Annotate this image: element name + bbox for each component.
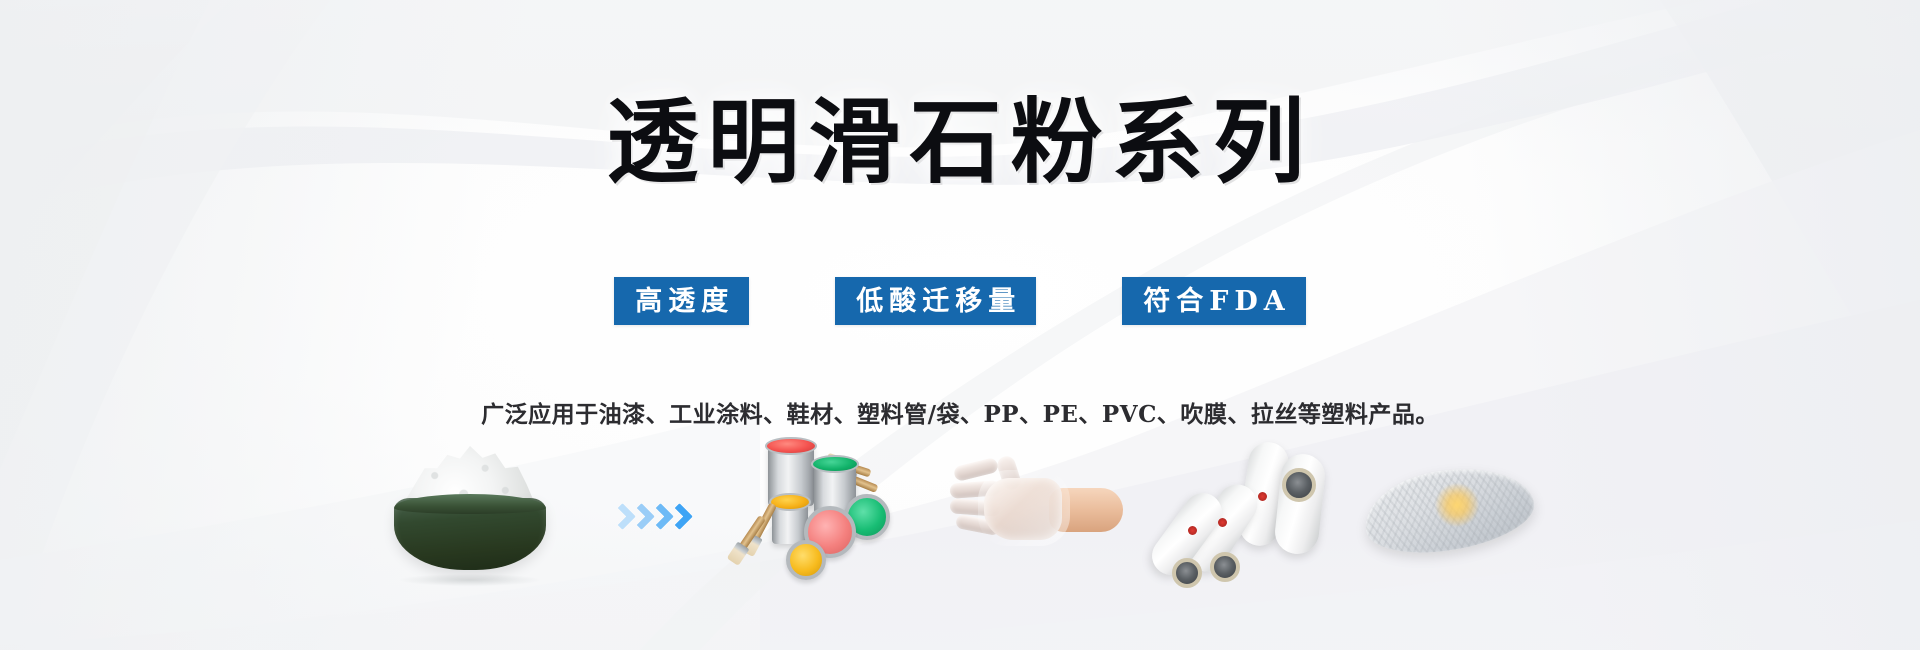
feature-badge-fda-compliant[interactable]: 符合FDA <box>1122 277 1306 325</box>
product-banner: 透明滑石粉系列 高透度 低酸迁移量 符合FDA 广泛应用于油漆、工业涂料、鞋材、… <box>0 0 1920 650</box>
chevron-arrows <box>612 504 685 534</box>
feature-badge-group: 高透度 低酸迁移量 符合FDA <box>0 277 1920 325</box>
chevron-right-icon-2 <box>631 504 647 534</box>
feature-badge-low-acid-migration[interactable]: 低酸迁移量 <box>835 277 1036 325</box>
paint-can-yellow <box>772 500 808 544</box>
product-image-film-rolls <box>1147 435 1337 590</box>
film-roll-core-2 <box>1172 558 1202 588</box>
paint-can-green-lid <box>811 455 859 473</box>
glove-palm <box>984 478 1062 540</box>
film-roll-label-dot-3 <box>1188 526 1197 535</box>
chevron-right-icon-4 <box>669 504 685 534</box>
bowl-shadow <box>400 574 540 586</box>
film-roll-core-1 <box>1282 468 1316 502</box>
gloved-hand-illustration <box>942 440 1127 590</box>
talc-bowl-illustration <box>375 440 565 590</box>
process-arrow-group <box>583 435 713 590</box>
product-image-talc-powder-bowl <box>375 435 565 590</box>
shoe-sole-highlight-glow <box>1436 484 1478 526</box>
feature-badge-high-transparency[interactable]: 高透度 <box>614 277 749 325</box>
paint-can-red-lid <box>765 437 817 455</box>
shoe-sole-illustration <box>1358 440 1543 590</box>
product-image-strip <box>0 430 1920 590</box>
product-image-paint-cans <box>731 435 921 590</box>
chevron-right-icon-3 <box>650 504 666 534</box>
banner-content: 透明滑石粉系列 高透度 低酸迁移量 符合FDA 广泛应用于油漆、工业涂料、鞋材、… <box>0 0 1920 650</box>
film-roll-label-dot-2 <box>1218 518 1227 527</box>
product-image-shoe-sole <box>1355 435 1545 590</box>
green-bowl-rim <box>394 494 546 514</box>
product-image-plastic-glove <box>939 435 1129 590</box>
plastic-film-rolls-illustration <box>1150 440 1335 590</box>
page-title: 透明滑石粉系列 <box>0 96 1920 188</box>
paint-cans-illustration <box>734 440 919 590</box>
film-roll-label-dot-1 <box>1258 492 1267 501</box>
paint-lid-yellow <box>786 540 826 580</box>
chevron-right-icon-1 <box>612 504 628 534</box>
application-description: 广泛应用于油漆、工业涂料、鞋材、塑料管/袋、PP、PE、PVC、吹膜、拉丝等塑料… <box>0 395 1920 429</box>
film-roll-core-3 <box>1210 552 1240 582</box>
glove-finger-1 <box>952 457 998 482</box>
